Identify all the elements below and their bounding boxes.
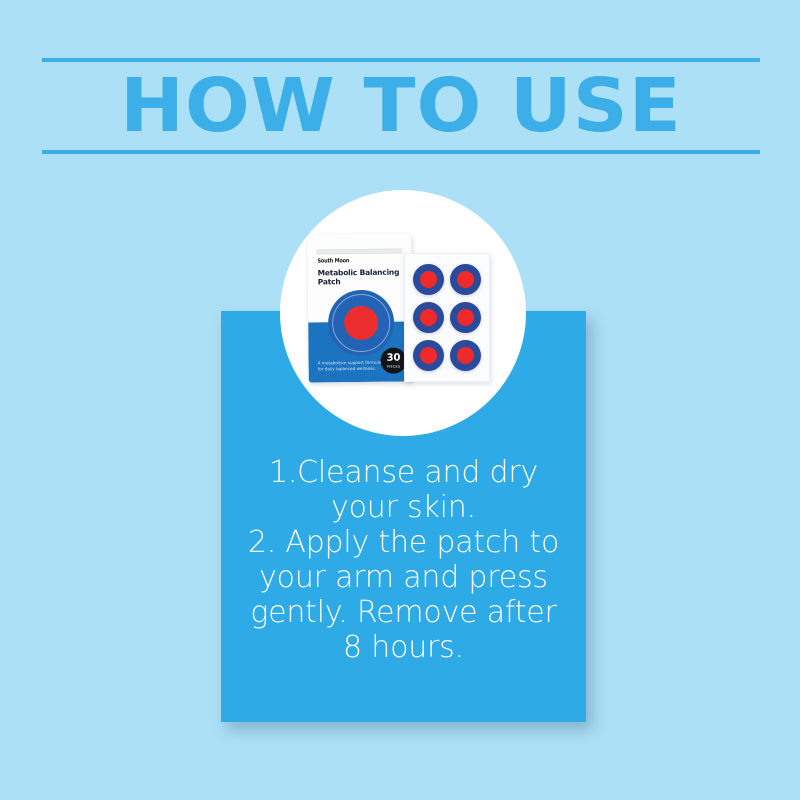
patch-sheet	[404, 253, 490, 382]
product-image-circle: South Moon Metabolic Balancing Patch A m…	[280, 190, 526, 436]
header: HOW TO USE	[42, 58, 760, 154]
pouch-tagline: A metabolism support formula for daily b…	[318, 360, 388, 373]
pouch-product-name: Metabolic Balancing Patch	[318, 268, 404, 288]
instructions-text: 1.Cleanse and dry your skin. 2. Apply th…	[221, 455, 586, 666]
patch-dot	[450, 340, 481, 371]
pouch-zip-seal	[316, 249, 402, 255]
patch-dot	[413, 302, 444, 333]
product-pouch: South Moon Metabolic Balancing Patch A m…	[307, 233, 413, 382]
patch-dot	[450, 302, 481, 333]
pouch-brand-logo: South Moon	[317, 258, 349, 265]
pouch-count-badge: 30 PIECES	[380, 348, 406, 374]
pouch-patch-core	[344, 306, 378, 340]
patch-dot	[413, 340, 444, 371]
title-rule-bottom	[42, 150, 760, 154]
pouch-patch-graphic-icon	[328, 290, 395, 357]
instruction-step-2: 2. Apply the patch to your arm and press…	[237, 525, 570, 665]
instruction-step-1: 1.Cleanse and dry your skin.	[237, 455, 570, 525]
pouch-count-value: 30	[387, 353, 401, 363]
pouch-count-label: PIECES	[387, 364, 401, 368]
page-title: HOW TO USE	[31, 58, 771, 154]
patch-dot	[413, 264, 444, 295]
patch-dot	[450, 264, 481, 295]
